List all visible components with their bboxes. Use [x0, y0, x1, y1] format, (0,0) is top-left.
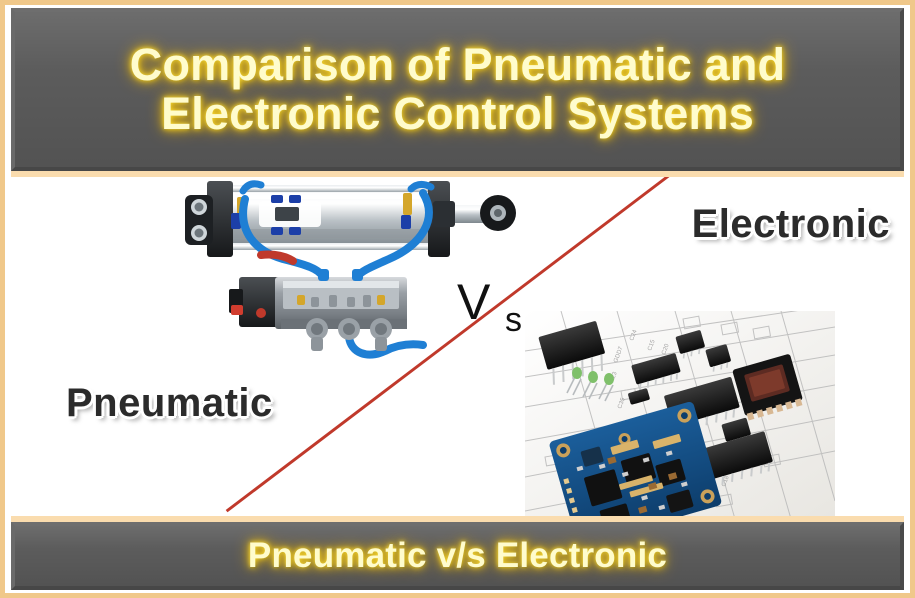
solenoid-valve [229, 269, 407, 351]
page-title-line2: Electronic Control Systems [161, 88, 754, 139]
footer-caption: Pneumatic v/s Electronic [222, 537, 693, 575]
label-pneumatic: Pneumatic [66, 381, 273, 426]
poster-root: Comparison of Pneumatic and Electronic C… [0, 0, 915, 598]
cylinder-assembly [185, 181, 516, 257]
page-title-line1: Comparison of Pneumatic and [130, 39, 785, 90]
versus-v: V [457, 274, 490, 330]
pneumatic-cylinder-and-valve-photo [171, 177, 521, 367]
electronic-pcb-and-chips-photo: C24 C15 C20 GDD7 R23 C35 R26 R25 M8 R17 … [525, 311, 835, 516]
label-electronic: Electronic [692, 202, 890, 247]
content-stage: C24 C15 C20 GDD7 R23 C35 R26 R25 M8 R17 … [11, 177, 904, 516]
page-title: Comparison of Pneumatic and Electronic C… [104, 41, 811, 138]
footer-banner: Pneumatic v/s Electronic [11, 522, 904, 590]
versus-s: s [505, 303, 522, 337]
versus-label: V s [457, 277, 490, 327]
header-banner: Comparison of Pneumatic and Electronic C… [11, 8, 904, 171]
